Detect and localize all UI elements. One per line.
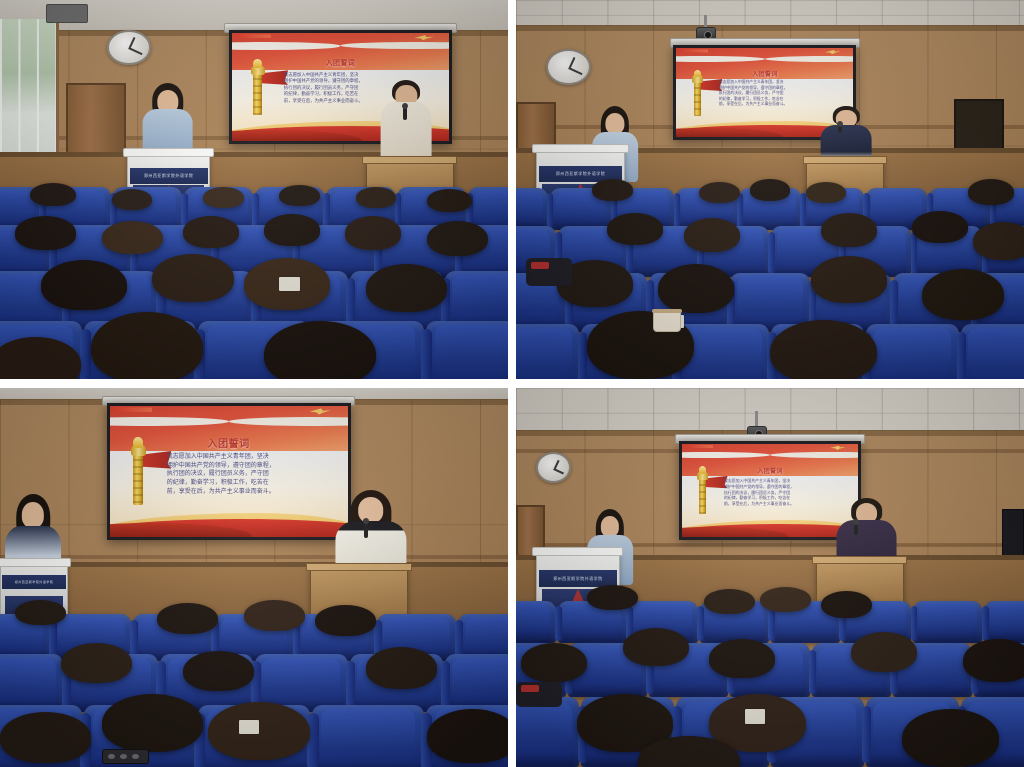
audience-head <box>30 183 76 206</box>
audience-head <box>963 639 1024 682</box>
audience-head <box>244 600 305 631</box>
audience-head <box>15 216 76 249</box>
flag-graphic <box>680 49 708 53</box>
audience-head <box>658 264 734 313</box>
camera-lens <box>132 754 139 759</box>
dove-icon <box>825 50 841 54</box>
audience-head <box>427 709 508 764</box>
stage-edge <box>0 562 508 567</box>
seat <box>866 324 959 379</box>
slide-title: 入团誓词 <box>682 466 859 475</box>
slide-bottom-decor <box>110 503 348 537</box>
slide-body: 我志愿加入中国共产主义青年团，坚决 拥护中国共产党的领导，遵守团的章程， 执行团… <box>719 80 843 108</box>
audience-head <box>811 256 887 303</box>
audience-head <box>279 185 320 206</box>
audience-head <box>821 591 872 618</box>
camera-lens <box>108 754 115 759</box>
audience-head <box>968 179 1014 204</box>
seat <box>961 324 1024 379</box>
phone <box>102 749 150 764</box>
banner-wave-right <box>770 452 858 458</box>
microphone <box>403 107 407 119</box>
auditorium-room: 入团誓词 我志愿加入中国共产主义青年团，坚决 拥护中国共产党的领导，遵守团的章程… <box>516 388 1024 767</box>
audience-head <box>345 216 401 249</box>
projector-lens <box>704 31 712 39</box>
banner-wave-right <box>229 417 348 426</box>
audience-head <box>592 179 633 200</box>
seat <box>0 654 63 712</box>
seat <box>913 601 982 644</box>
audience-head <box>315 605 376 636</box>
hair-clip <box>745 709 765 724</box>
seat <box>516 188 548 230</box>
hair-clip <box>279 277 299 292</box>
audience-head <box>183 216 239 247</box>
wall-clock <box>107 30 152 64</box>
audience-head <box>203 187 244 208</box>
audience-head <box>102 221 163 254</box>
ceiling <box>516 388 1024 433</box>
slide-body: 我志愿加入中国共产主义青年团，坚决 拥护中国共产党的领导，遵守团的章程， 执行团… <box>167 453 331 496</box>
dove-icon <box>414 35 434 40</box>
audience-area <box>0 585 508 767</box>
lectern-sign-text: 郑州西亚斯学院外语学院 <box>2 580 65 584</box>
flag-graphic <box>685 445 713 449</box>
audience-area <box>516 167 1024 379</box>
slide-title: 入团誓词 <box>232 58 450 68</box>
seat <box>516 324 579 379</box>
audience-head <box>264 214 320 245</box>
hair-clip <box>239 720 259 735</box>
audience-head <box>0 712 91 763</box>
slide-title: 入团誓词 <box>110 435 348 450</box>
auditorium-room: 入团誓词 我志愿加入中国共产主义青年团，坚决 拥护中国共产党的领导，遵守团的章程… <box>516 0 1024 379</box>
audience-head <box>356 187 397 208</box>
audience-head <box>623 628 689 667</box>
wall-clock <box>536 452 570 483</box>
slide-body: 我志愿加入中国共产主义青年团，坚决 拥护中国共产党的领导，遵守团的章程， 执行团… <box>724 478 848 506</box>
audience-head <box>61 643 132 683</box>
slide-title: 入团誓词 <box>676 69 853 78</box>
audience-head <box>760 587 811 612</box>
audience-head <box>922 269 1003 320</box>
window <box>0 19 59 155</box>
panel-top-left: 入团誓词 我志愿加入中国共产主义青年团，坚决 拥护中国共产党的领导，遵守团的章程… <box>0 0 508 379</box>
dove-icon <box>830 446 846 450</box>
flag-graphic <box>114 407 152 412</box>
projection-screen-area: 入团誓词 我志愿加入中国共产主义青年团，坚决 拥护中国共产党的领导，遵守团的章程… <box>679 441 862 540</box>
audience-head <box>851 632 917 673</box>
slide-bottom-decor <box>682 513 859 537</box>
audience-area <box>516 574 1024 767</box>
flag-graphic <box>236 34 271 38</box>
speaker-person <box>381 80 432 167</box>
microphone <box>854 523 858 535</box>
audience-head <box>427 221 488 256</box>
photo-collage: 入团誓词 我志愿加入中国共产主义青年团，坚决 拥护中国共产党的领导，遵守团的章程… <box>0 0 1024 767</box>
backpack <box>526 258 572 286</box>
wall-band <box>0 555 508 559</box>
projection-screen-area: 入团誓词 我志愿加入中国共产主义青年团，坚决 拥护中国共产党的领导，遵守团的章程… <box>107 403 351 539</box>
audience-head <box>684 218 740 252</box>
audience-head <box>912 211 968 243</box>
seat <box>426 321 508 379</box>
banner-wave-right <box>340 42 449 49</box>
ac-unit <box>46 4 89 23</box>
microphone <box>364 522 368 538</box>
head <box>22 502 44 528</box>
slide-body-line: 拥护中国共产党的领导，遵守团的章程， <box>167 462 331 471</box>
auditorium-room: 入团誓词 我志愿加入中国共产主义青年团，坚决 拥护中国共产党的领导，遵守团的章程… <box>0 388 508 767</box>
projection-screen: 入团誓词 我志愿加入中国共产主义青年团，坚决 拥护中国共产党的领导，遵守团的章程… <box>679 441 862 540</box>
audience-head <box>157 603 218 634</box>
audience-head <box>806 182 847 203</box>
banner-wave-left <box>682 452 770 458</box>
audience-head <box>709 639 775 678</box>
audience-head <box>821 213 877 247</box>
slide-body-line: 前，享受在后，为共产主义事业而奋斗。 <box>167 488 331 497</box>
audience-area <box>0 171 508 379</box>
audience-head <box>750 179 791 200</box>
audience-head <box>183 651 254 691</box>
audience-head <box>208 702 310 760</box>
audience-head <box>15 600 66 625</box>
projection-screen: 入团誓词 我志愿加入中国共产主义青年团，坚决 拥护中国共产党的领导，遵守团的章程… <box>107 403 351 539</box>
ceiling <box>516 0 1024 27</box>
slide: 入团誓词 我志愿加入中国共产主义青年团，坚决 拥护中国共产党的领导，遵守团的章程… <box>110 406 348 536</box>
slide-body-line: 执行团的决议，履行团员义务，严守团 <box>167 470 331 479</box>
audience-head <box>427 189 473 212</box>
head <box>358 497 384 523</box>
audience-head <box>521 643 587 682</box>
head <box>601 516 619 536</box>
seat <box>984 601 1024 644</box>
audience-head <box>902 709 999 767</box>
audience-head <box>607 213 663 245</box>
audience-head <box>704 589 755 614</box>
seat <box>312 705 424 767</box>
audience-head <box>41 260 127 310</box>
slide-body-line: 我志愿加入中国共产主义青年团，坚决 <box>167 453 331 462</box>
backpack <box>516 682 562 707</box>
seat <box>445 654 508 712</box>
microphone <box>838 125 842 133</box>
banner-wave-left <box>232 42 341 49</box>
drink-cup <box>653 311 680 332</box>
seat <box>516 697 579 767</box>
slide: 入团誓词 我志愿加入中国共产主义青年团，坚决 拥护中国共产党的领导，遵守团的章程… <box>682 444 859 537</box>
auditorium-room: 入团誓词 我志愿加入中国共产主义青年团，坚决 拥护中国共产党的领导，遵守团的章程… <box>0 0 508 379</box>
audience-head <box>699 182 740 203</box>
banner-wave-left <box>110 417 229 426</box>
audience-head <box>102 694 204 752</box>
banner-wave-left <box>676 56 764 62</box>
camera-lens <box>120 754 127 759</box>
panel-top-right: 入团誓词 我志愿加入中国共产主义青年团，坚决 拥护中国共产党的领导，遵守团的章程… <box>516 0 1024 379</box>
banner-wave-right <box>765 56 853 62</box>
audience-head <box>770 320 877 379</box>
dove-icon <box>309 408 330 414</box>
audience-head <box>366 264 447 312</box>
seat <box>516 601 556 644</box>
slide-body-line: 的纪律，勤奋学习，积极工作，吃苦在 <box>167 479 331 488</box>
panel-bottom-left: 入团誓词 我志愿加入中国共产主义青年团，坚决 拥护中国共产党的领导，遵守团的章程… <box>0 388 508 767</box>
audience-head <box>587 585 638 610</box>
panel-bottom-right: 入团誓词 我志愿加入中国共产主义青年团，坚决 拥护中国共产党的领导，遵守团的章程… <box>516 388 1024 767</box>
audience-head <box>152 254 233 302</box>
audience-head <box>112 189 153 210</box>
audience-head <box>91 312 203 379</box>
audience-head <box>973 222 1024 260</box>
slide-body-line: 前，享受在后，为共产主义事业而奋斗。 <box>724 501 848 507</box>
audience-head <box>366 647 437 689</box>
